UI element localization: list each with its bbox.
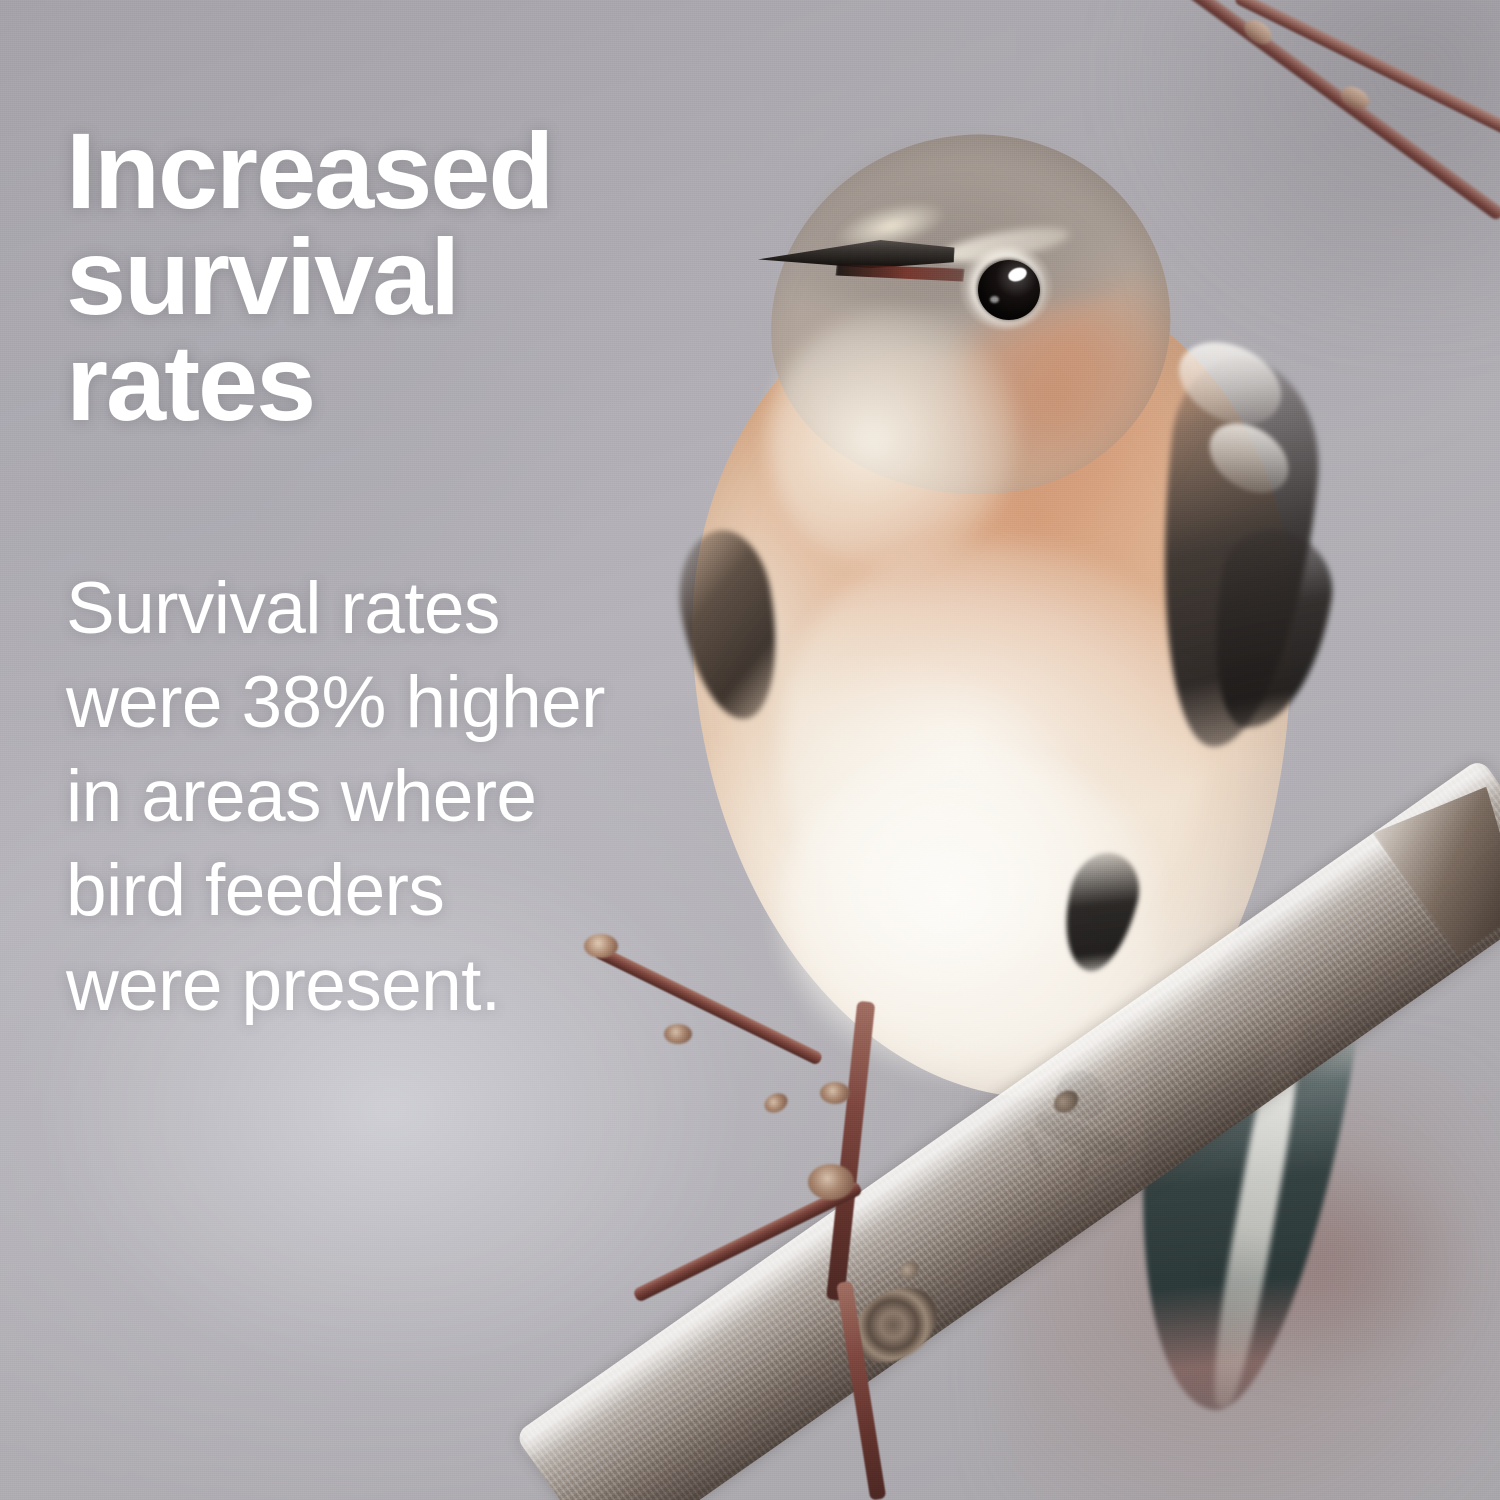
body-line-3: in areas where <box>66 750 746 844</box>
body-text: Survival rates were 38% higher in areas … <box>66 562 746 1033</box>
page-title: Increased survival rates <box>66 118 726 435</box>
infographic-card: Increased survival rates Survival rates … <box>0 0 1500 1500</box>
headline-line-2: survival <box>66 224 726 330</box>
body-line-5: were present. <box>66 939 746 1033</box>
body-line-1: Survival rates <box>66 562 746 656</box>
headline-line-1: Increased <box>66 118 726 224</box>
body-line-2: were 38% higher <box>66 656 746 750</box>
headline-line-3: rates <box>66 330 726 436</box>
body-line-4: bird feeders <box>66 844 746 938</box>
